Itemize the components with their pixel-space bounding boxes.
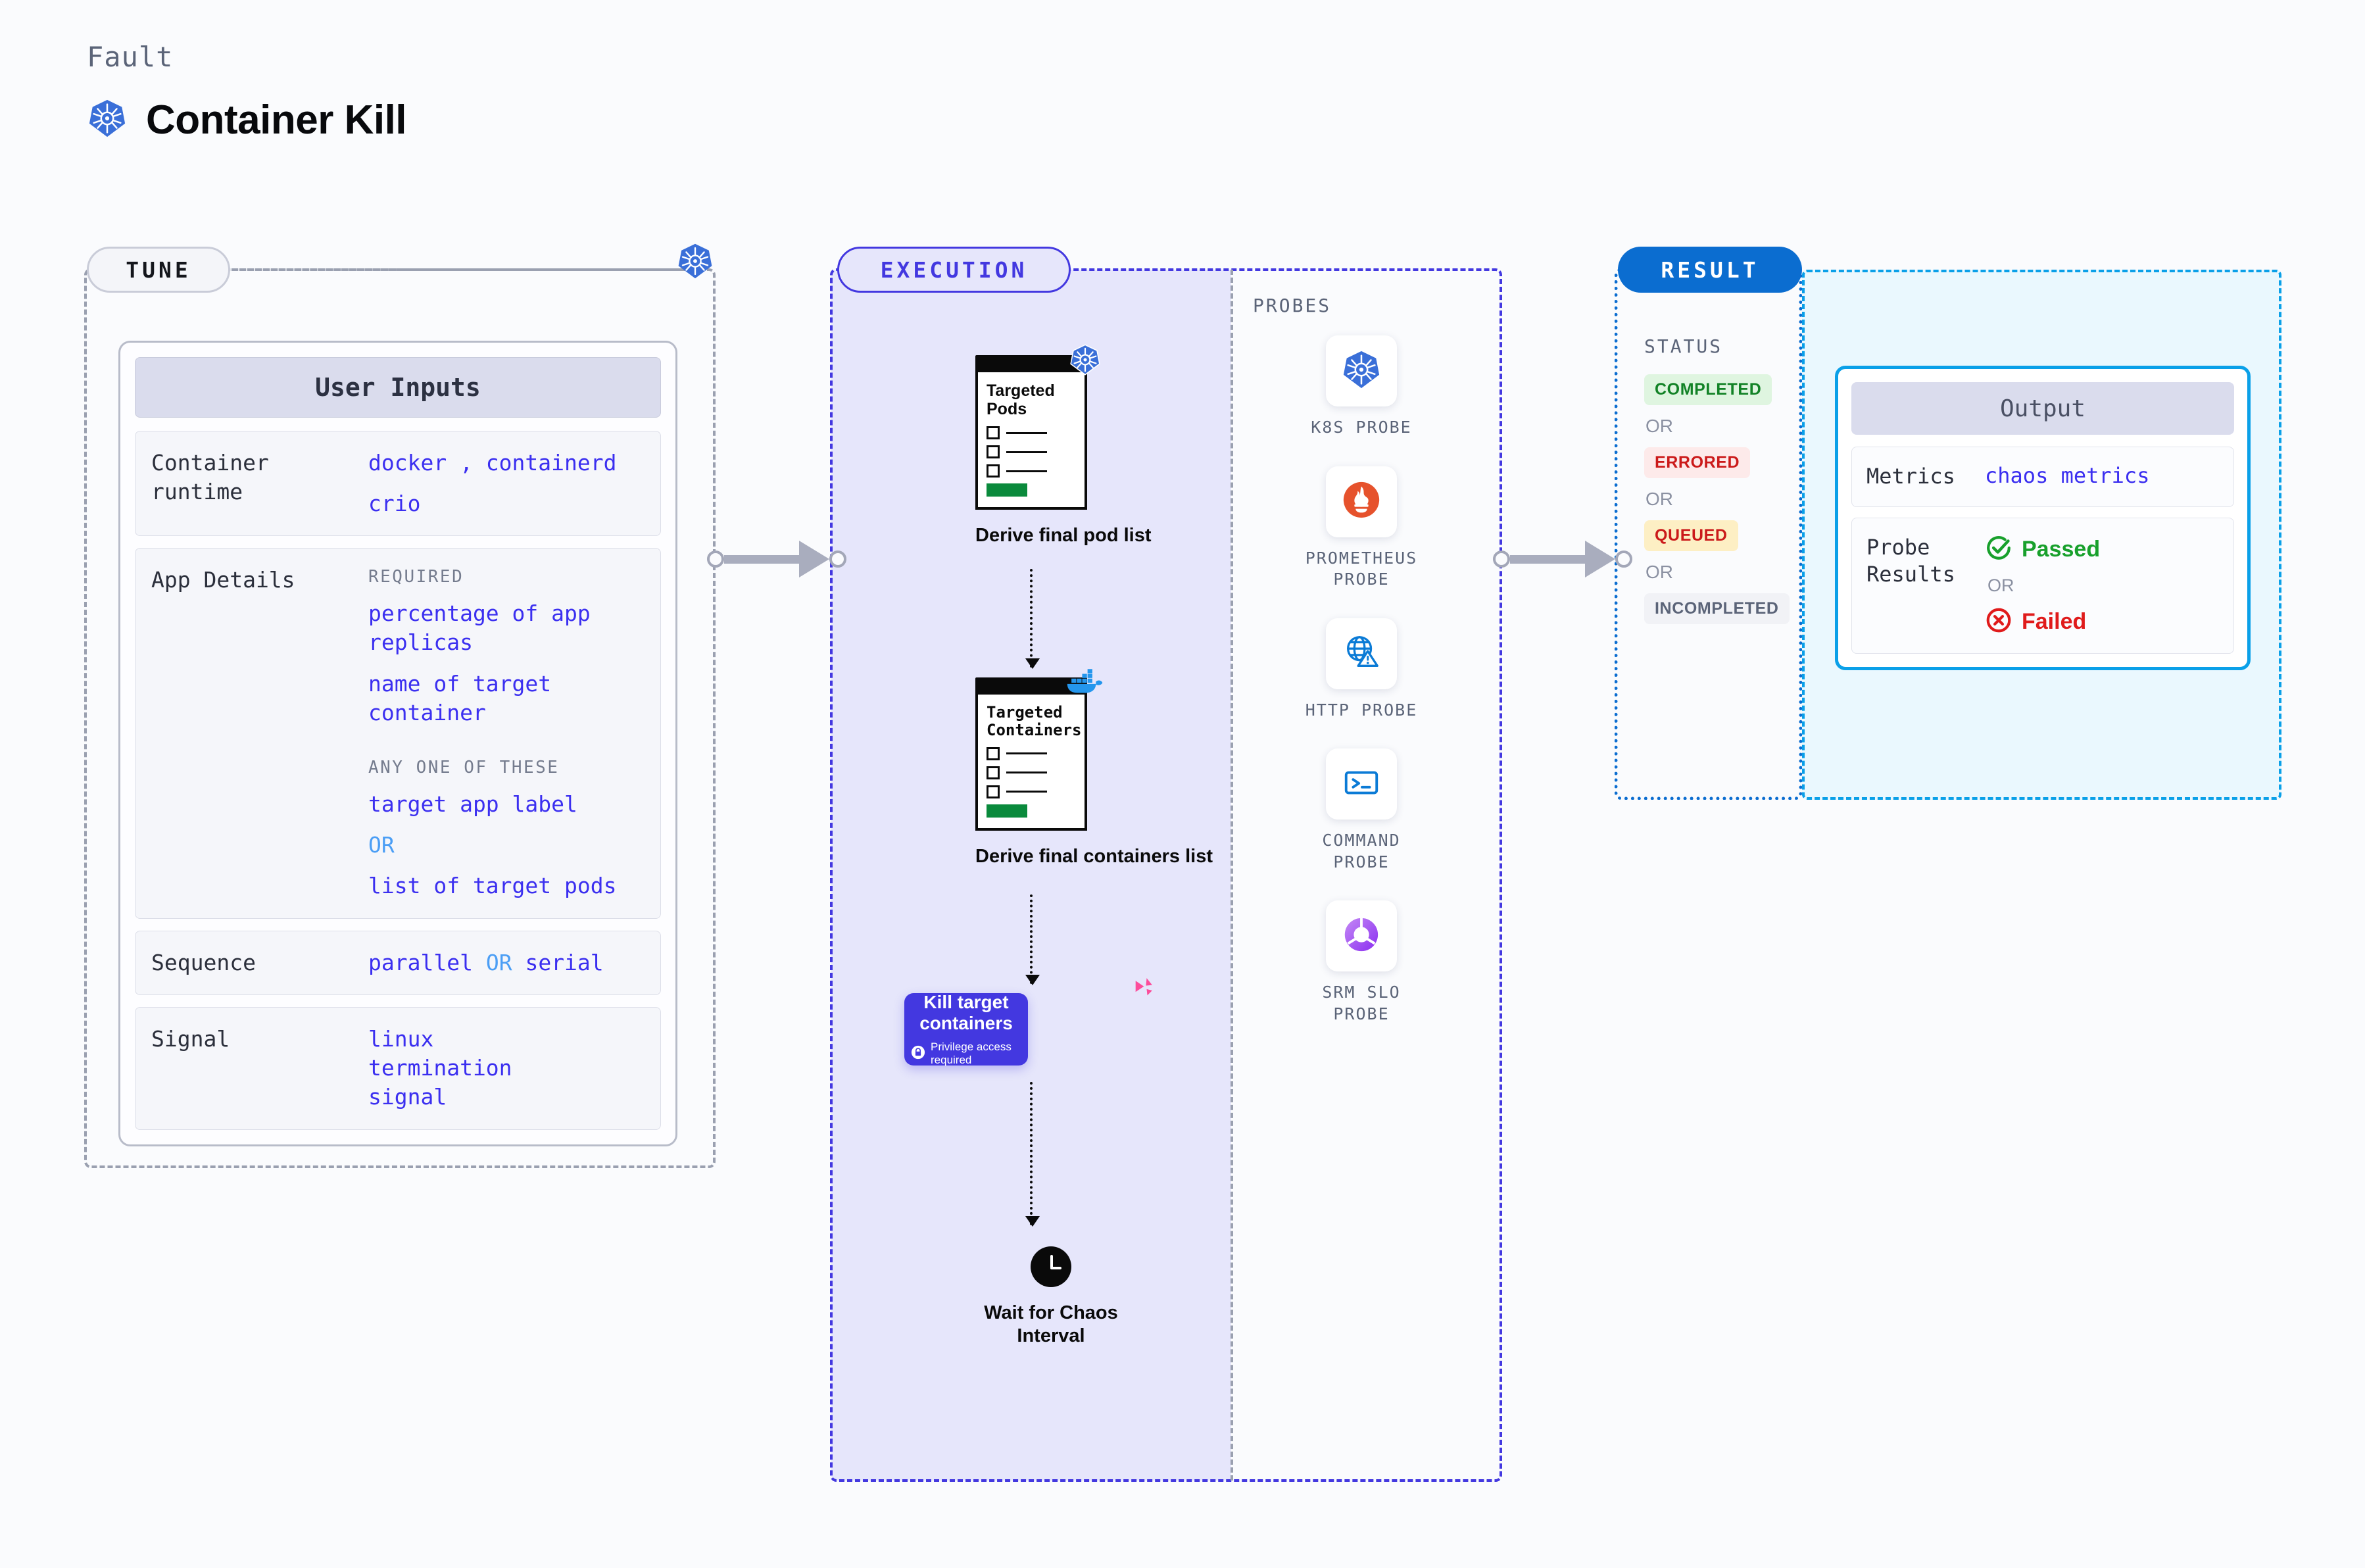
- status-column: STATUS COMPLETED OR ERRORED OR QUEUED OR…: [1644, 335, 1795, 624]
- output-title: Output: [1851, 382, 2234, 435]
- arrowhead-icon: [1025, 975, 1040, 985]
- node-wait-for-chaos-interval[interactable]: Wait for Chaos Interval: [972, 1246, 1130, 1348]
- value-or: OR: [486, 950, 512, 975]
- result-pill[interactable]: RESULT: [1618, 247, 1802, 293]
- probe-label: HTTP PROBE: [1305, 700, 1418, 722]
- or-separator: OR: [1987, 576, 2100, 596]
- passed-label: Passed: [2022, 537, 2100, 562]
- probe-item-prometheus[interactable]: PROMETHEUS PROBE: [1305, 466, 1418, 591]
- node-derive-containers-list[interactable]: Targeted Containers Derive final contain…: [975, 677, 1213, 868]
- status-badge-completed: COMPLETED: [1644, 374, 1772, 405]
- row-key: Signal: [151, 1025, 368, 1112]
- value-line: crio: [368, 489, 617, 518]
- title-row: Container Kill: [87, 97, 406, 143]
- privilege-label: Privilege access required: [931, 1041, 1021, 1067]
- row-values: REQUIRED percentage of app replicas name…: [368, 566, 645, 900]
- check-circle-icon: [1985, 534, 2012, 565]
- connector-containers-to-kill: [1030, 894, 1033, 984]
- checklist-row: [987, 464, 1076, 478]
- checklist-row: [987, 445, 1076, 458]
- arrowhead-icon: [1025, 1216, 1040, 1227]
- checklist-row: [987, 747, 1076, 760]
- connector-pods-to-containers: [1030, 569, 1033, 668]
- row-key: Sequence: [151, 948, 368, 977]
- connector-line: [1510, 555, 1586, 564]
- row-value: chaos metrics: [1985, 463, 2149, 491]
- value-line: linux termination signal: [368, 1025, 585, 1112]
- arrowhead-icon: [1585, 541, 1615, 577]
- or-separator: OR: [1646, 416, 1795, 437]
- probe-result-passed: Passed: [1985, 534, 2100, 565]
- checkbox-icon: [987, 445, 1000, 458]
- probe-tile: [1326, 618, 1397, 689]
- node-derive-pod-list[interactable]: Targeted Pods Derive final pod list: [975, 355, 1152, 547]
- probe-tile: [1326, 466, 1397, 537]
- probes-section-label: PROBES: [1253, 295, 1331, 316]
- litmus-chaos-icon: [1126, 977, 1154, 1008]
- row-key: Probe Results: [1866, 534, 1985, 637]
- srm-slo-icon: [1341, 914, 1382, 958]
- lock-icon: [911, 1045, 925, 1063]
- checklist-row: [987, 785, 1076, 798]
- status-badge-errored: ERRORED: [1644, 447, 1750, 478]
- clock-icon: [1031, 1246, 1071, 1287]
- checklist-row: [987, 426, 1076, 439]
- card-heading: Targeted Containers: [987, 704, 1076, 739]
- kubernetes-icon: [1069, 343, 1102, 380]
- value-line: target app label: [368, 790, 645, 819]
- connector-line: [724, 555, 800, 564]
- probe-result-values: Passed OR Failed: [1985, 534, 2100, 637]
- connector-start-dot: [1493, 551, 1510, 568]
- row-key: Metrics: [1866, 463, 1985, 491]
- green-status-bar: [987, 804, 1027, 818]
- arrowhead-icon: [799, 541, 829, 577]
- row-key: Container runtime: [151, 449, 368, 518]
- probe-tile: [1326, 900, 1397, 971]
- tune-row-sequence: Sequence parallel OR serial: [135, 931, 661, 995]
- node-kill-target-containers[interactable]: Kill target containers Privilege access …: [904, 993, 1028, 1066]
- probe-item-k8s[interactable]: K8S PROBE: [1311, 335, 1411, 439]
- status-heading: STATUS: [1644, 335, 1795, 357]
- checkbox-icon: [987, 785, 1000, 798]
- any-one-subheading: ANY ONE OF THESE: [368, 756, 645, 779]
- connector-tune-to-execution: [707, 546, 846, 572]
- checklist-row: [987, 766, 1076, 779]
- probe-label: SRM SLO PROBE: [1322, 982, 1400, 1025]
- probe-item-command[interactable]: COMMAND PROBE: [1322, 748, 1400, 873]
- probe-tile: [1326, 335, 1397, 406]
- output-card: Output Metrics chaos metrics Probe Resul…: [1835, 366, 2251, 670]
- status-badge-incompleted: INCOMPLETED: [1644, 593, 1790, 624]
- or-separator: OR: [1646, 489, 1795, 510]
- checkbox-icon: [987, 766, 1000, 779]
- checkbox-icon: [987, 747, 1000, 760]
- green-status-bar: [987, 483, 1027, 497]
- kill-node-title: Kill target containers: [911, 992, 1021, 1035]
- probe-result-failed: Failed: [1985, 606, 2100, 637]
- terminal-icon: [1341, 762, 1382, 806]
- targeted-containers-card: Targeted Containers: [975, 677, 1087, 831]
- row-values: linux termination signal: [368, 1025, 585, 1112]
- tune-dashed-link: [232, 268, 700, 271]
- page-header: Fault Contai: [87, 41, 406, 143]
- rule-line: [1006, 470, 1047, 472]
- tune-row-signal: Signal linux termination signal: [135, 1007, 661, 1130]
- privilege-row: Privilege access required: [911, 1041, 1021, 1067]
- user-inputs-title: User Inputs: [135, 357, 661, 418]
- value-line: name of target container: [368, 670, 645, 727]
- rule-line: [1006, 451, 1047, 453]
- user-inputs-card: User Inputs Container runtime docker , c…: [118, 341, 677, 1146]
- probe-label: PROMETHEUS PROBE: [1305, 548, 1418, 591]
- node-caption: Derive final containers list: [975, 845, 1213, 868]
- globe-warning-icon: [1341, 631, 1382, 675]
- kubernetes-icon: [676, 242, 714, 283]
- docker-icon: [1066, 668, 1104, 702]
- connector-end-dot: [1615, 551, 1632, 568]
- value-parallel: parallel: [368, 950, 473, 975]
- arrowhead-icon: [1025, 658, 1040, 669]
- row-key: App Details: [151, 566, 368, 900]
- card-body: Targeted Containers: [975, 695, 1087, 831]
- page-title: Container Kill: [146, 97, 406, 143]
- probes-list: K8S PROBE PROMETHEUS PROBE: [1243, 335, 1480, 1025]
- node-caption: Derive final pod list: [975, 524, 1152, 547]
- output-row-metrics: Metrics chaos metrics: [1851, 447, 2234, 507]
- connector-end-dot: [829, 551, 846, 568]
- row-values: docker , containerd crio: [368, 449, 617, 518]
- tune-row-app-details: App Details REQUIRED percentage of app r…: [135, 548, 661, 918]
- tune-row-container-runtime: Container runtime docker , containerd cr…: [135, 431, 661, 536]
- failed-label: Failed: [2022, 609, 2086, 635]
- value-line: docker , containerd: [368, 449, 617, 478]
- probe-label: K8S PROBE: [1311, 417, 1411, 439]
- checkbox-icon: [987, 464, 1000, 478]
- checkbox-icon: [987, 426, 1000, 439]
- connector-start-dot: [707, 551, 724, 568]
- rule-line: [1006, 752, 1047, 754]
- connector-execution-to-result: [1493, 546, 1632, 572]
- or-separator: OR: [1646, 562, 1795, 583]
- execution-pill[interactable]: EXECUTION: [837, 247, 1071, 293]
- fault-eyebrow: Fault: [87, 41, 406, 73]
- prometheus-icon: [1341, 479, 1382, 524]
- rule-line: [1006, 432, 1047, 434]
- value-line: percentage of app replicas: [368, 599, 645, 657]
- value-serial: serial: [525, 950, 603, 975]
- connector-kill-to-wait: [1030, 1082, 1033, 1225]
- probe-item-srm-slo[interactable]: SRM SLO PROBE: [1322, 900, 1400, 1025]
- kubernetes-icon: [1341, 349, 1382, 393]
- row-values: parallel OR serial: [368, 948, 604, 977]
- probe-tile: [1326, 748, 1397, 820]
- node-caption: Wait for Chaos Interval: [972, 1302, 1130, 1348]
- output-row-probe-results: Probe Results Passed OR: [1851, 518, 2234, 654]
- tune-pill[interactable]: TUNE: [87, 247, 230, 293]
- card-body: Targeted Pods: [975, 372, 1087, 510]
- status-badge-queued: QUEUED: [1644, 520, 1738, 551]
- card-heading: Targeted Pods: [987, 381, 1076, 418]
- value-or: OR: [368, 831, 645, 860]
- probe-label: COMMAND PROBE: [1322, 830, 1400, 873]
- required-subheading: REQUIRED: [368, 566, 645, 589]
- rule-line: [1006, 772, 1047, 773]
- probes-divider: [1231, 270, 1233, 1481]
- probe-item-http[interactable]: HTTP PROBE: [1305, 618, 1418, 722]
- kubernetes-icon: [87, 98, 128, 142]
- value-line: list of target pods: [368, 871, 645, 900]
- x-circle-icon: [1985, 606, 2012, 637]
- targeted-pods-card: Targeted Pods: [975, 355, 1087, 510]
- rule-line: [1006, 791, 1047, 793]
